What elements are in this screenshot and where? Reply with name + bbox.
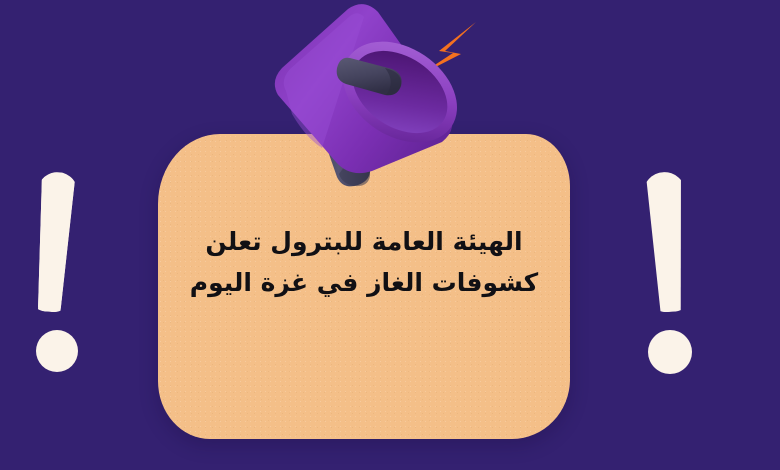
megaphone-icon — [252, 0, 482, 206]
exclamation-dot-right — [648, 330, 692, 374]
exclamation-mark-right — [640, 172, 720, 377]
headline-line-2: كشوفات الغاز في غزة اليوم — [180, 263, 548, 304]
exclamation-stem-left — [29, 171, 79, 313]
exclamation-stem-right — [642, 171, 691, 313]
announcement-graphic-canvas: الهيئة العامة للبترول تعلن كشوفات الغاز … — [0, 0, 780, 470]
headline-line-1: الهيئة العامة للبترول تعلن — [180, 222, 548, 263]
headline-text: الهيئة العامة للبترول تعلن كشوفات الغاز … — [158, 222, 570, 303]
exclamation-dot-left — [36, 330, 78, 372]
exclamation-mark-left — [28, 172, 108, 377]
